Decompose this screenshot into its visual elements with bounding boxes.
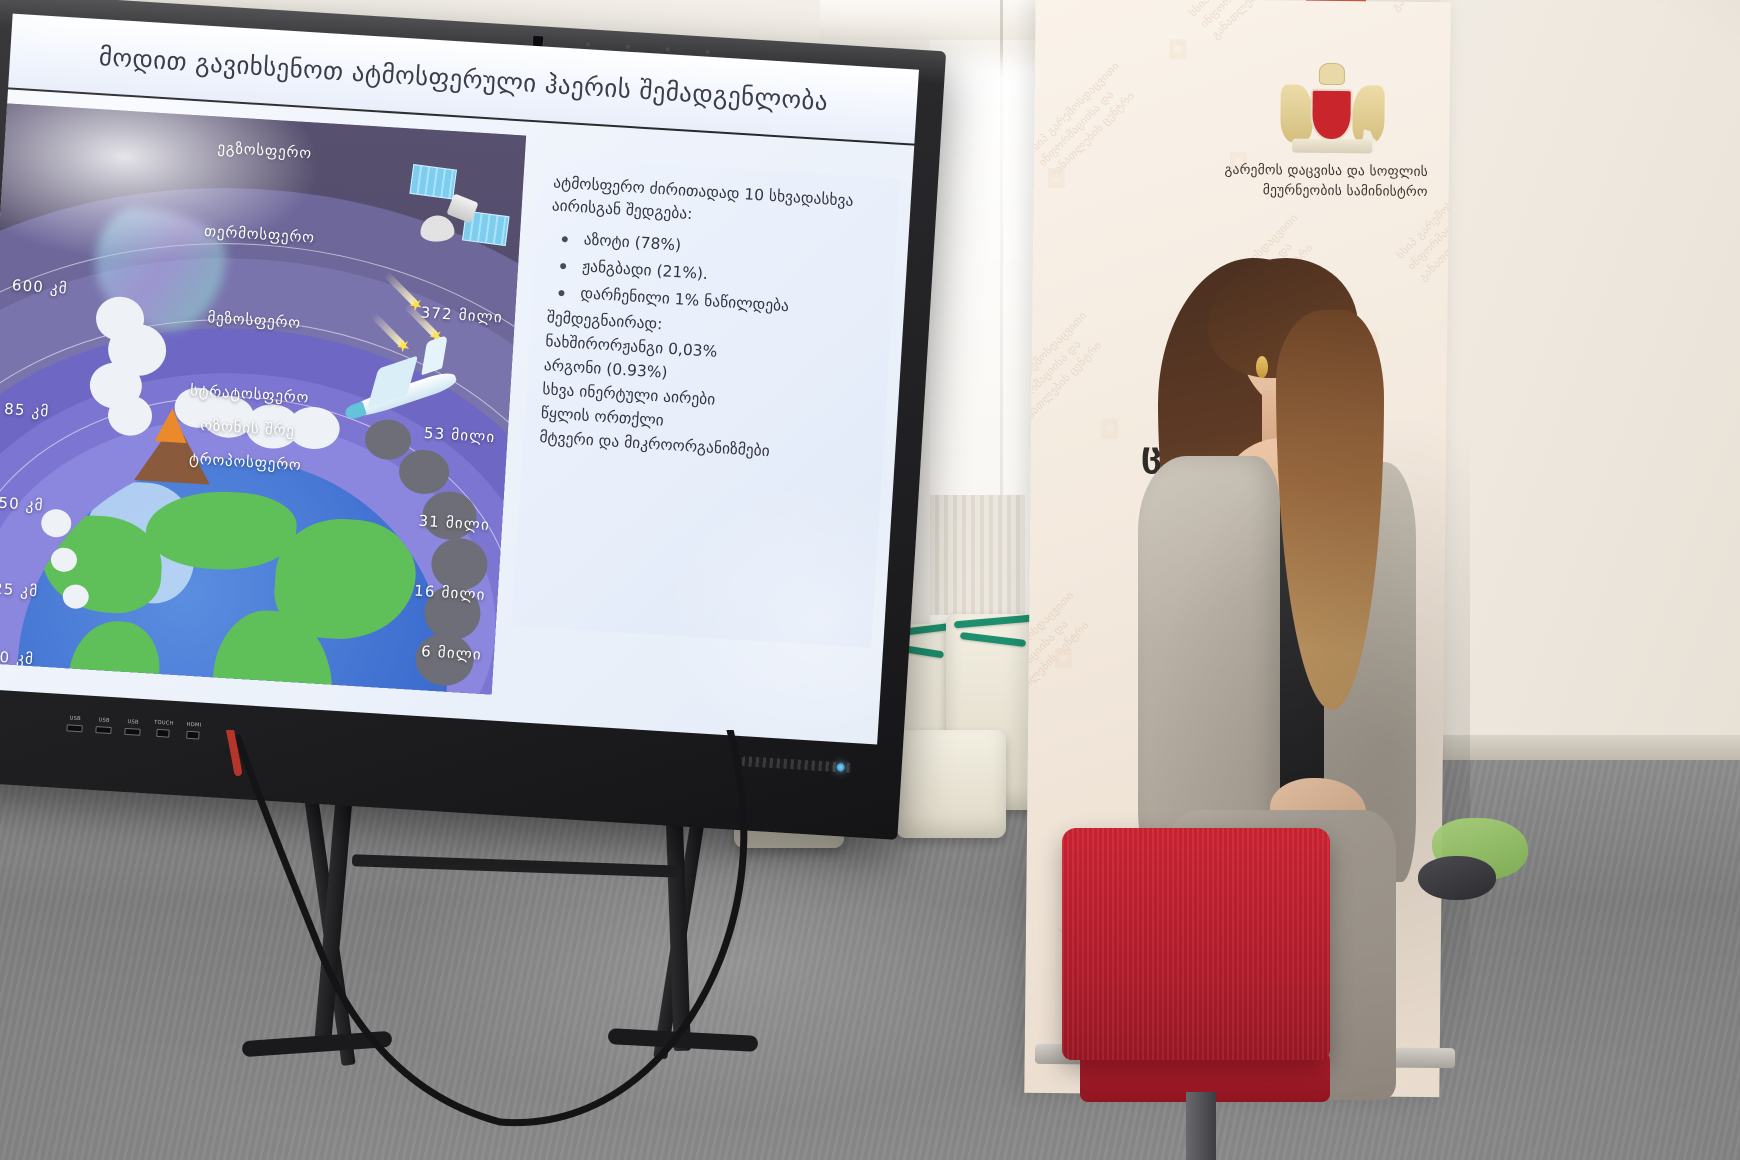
watermark-text: სსიპ გარემოსდაცვითიინფორმაციისა დაგანათლ… bbox=[1366, 0, 1451, 15]
slide-text-column: ატმოსფერო ძირითადად 10 სხვადასხვა აირისგ… bbox=[490, 122, 914, 745]
atmosphere-diagram: ეგზოსფერო თერმოსფერო მეზოსფერო სტრატოსფე… bbox=[0, 103, 526, 694]
altitude-label-50km: 50 კმ bbox=[0, 494, 44, 515]
usb-port-icon[interactable] bbox=[124, 728, 140, 736]
port-label: USB bbox=[69, 715, 81, 722]
altitude-label-25km: 25 კმ bbox=[0, 579, 39, 600]
lion-supporter-icon bbox=[1280, 84, 1313, 142]
altitude-label-10km: 10 კმ bbox=[0, 647, 35, 668]
altitude-label-600km: 600 კმ bbox=[11, 276, 68, 297]
chair-fabric-texture bbox=[1062, 828, 1330, 1060]
watermark-badge-icon bbox=[1169, 39, 1186, 59]
chair-backrest bbox=[1062, 828, 1330, 1060]
watermark-text: სსიპ გარემოსდაცვითიინფორმაციისა დაგანათლ… bbox=[1024, 59, 1146, 182]
banner-org-line-1: გარემოს დაცვისა და სოფლის bbox=[1154, 159, 1428, 182]
watermark-text: სსიპ გარემოსდაცვითიინფორმაციისა დაგანათლ… bbox=[1186, 0, 1308, 43]
display-screen[interactable]: ეგზოსფერო თერმოსფერო მეზოსფერო სტრატოსფე… bbox=[0, 89, 914, 744]
smart-display[interactable]: მოდით გავიხსენოთ ატმოსფერული ჰაერის შემა… bbox=[0, 0, 951, 860]
port-hdmi[interactable]: HDMI bbox=[186, 722, 202, 740]
port-label: HDMI bbox=[186, 722, 201, 729]
radiator bbox=[930, 495, 1025, 615]
port-usb-3[interactable]: USB bbox=[124, 719, 141, 736]
earring bbox=[1256, 356, 1268, 378]
slide-body: ეგზოსფერო თერმოსფერო მეზოსფერო სტრატოსფე… bbox=[0, 89, 914, 744]
hdmi-port-icon[interactable] bbox=[187, 731, 200, 740]
floor-object-dark bbox=[1418, 856, 1496, 900]
usb-port-icon[interactable] bbox=[95, 726, 111, 734]
port-label: TOUCH bbox=[154, 720, 174, 727]
crown-icon bbox=[1319, 63, 1345, 85]
altitude-label-6mi: 6 მილი bbox=[421, 642, 483, 664]
continent bbox=[66, 618, 163, 694]
shield-icon bbox=[1310, 89, 1353, 141]
tote-bag bbox=[896, 730, 1006, 838]
banner-org-line-2: მეურნეობის სამინისტრო bbox=[1154, 179, 1428, 202]
port-touch[interactable]: TOUCH bbox=[153, 720, 174, 738]
chair-post bbox=[1186, 1092, 1216, 1160]
usb-port-icon[interactable] bbox=[66, 724, 82, 732]
slide-text-panel: ატმოსფერო ძირითადად 10 სხვადასხვა აირისგ… bbox=[512, 157, 900, 648]
motto-ribbon bbox=[1292, 139, 1372, 154]
port-usb-1[interactable]: USB bbox=[66, 715, 83, 732]
altitude-label-85km: 85 კმ bbox=[4, 400, 50, 421]
port-usb-2[interactable]: USB bbox=[95, 717, 112, 734]
watermark-badge-icon bbox=[1048, 168, 1065, 188]
port-label: USB bbox=[98, 717, 110, 724]
touch-port-icon[interactable] bbox=[156, 729, 169, 738]
banner-organization-name: გარემოს დაცვისა და სოფლის მეურნეობის სამ… bbox=[1154, 159, 1451, 203]
georgia-coat-of-arms-icon bbox=[1276, 60, 1387, 161]
photo-scene: მოდით გავიხსენოთ ატმოსფერული ჰაერის შემა… bbox=[0, 0, 1740, 1160]
watermark-badge-icon bbox=[1055, 648, 1072, 668]
port-label: USB bbox=[127, 719, 139, 726]
